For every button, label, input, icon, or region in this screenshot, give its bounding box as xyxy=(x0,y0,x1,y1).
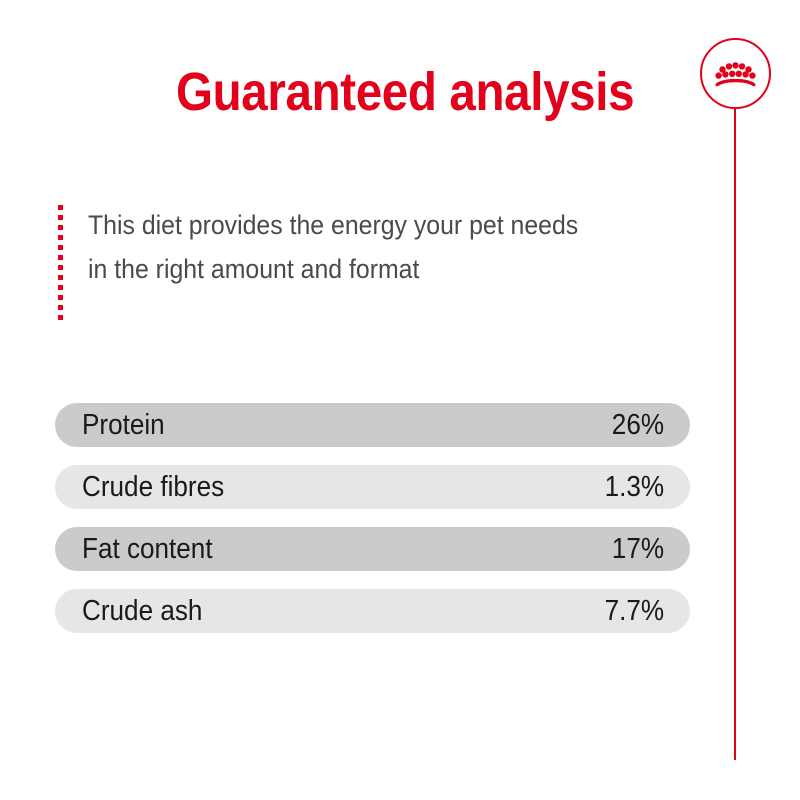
intro-text: This diet provides the energy your pet n… xyxy=(88,203,603,291)
red-dotted-rule xyxy=(58,205,66,321)
royal-canin-logo xyxy=(700,38,771,109)
crown-icon xyxy=(712,59,759,89)
guaranteed-analysis-table: Protein 26% Crude fibres 1.3% Fat conten… xyxy=(55,403,690,633)
nutrient-label: Crude fibres xyxy=(82,472,224,502)
table-row: Protein 26% xyxy=(55,403,690,447)
nutrient-value: 17% xyxy=(612,534,664,564)
guaranteed-analysis-panel: Guaranteed analysis This diet provides t… xyxy=(0,0,800,800)
nutrient-value: 7.7% xyxy=(605,596,664,626)
nutrient-label: Fat content xyxy=(82,534,213,564)
page-title: Guaranteed analysis xyxy=(176,62,634,122)
table-row: Crude ash 7.7% xyxy=(55,589,690,633)
table-row: Crude fibres 1.3% xyxy=(55,465,690,509)
nutrient-label: Crude ash xyxy=(82,596,202,626)
nutrient-value: 26% xyxy=(612,410,664,440)
table-row: Fat content 17% xyxy=(55,527,690,571)
logo-vertical-rule xyxy=(734,107,736,760)
nutrient-label: Protein xyxy=(82,410,165,440)
nutrient-value: 1.3% xyxy=(605,472,664,502)
